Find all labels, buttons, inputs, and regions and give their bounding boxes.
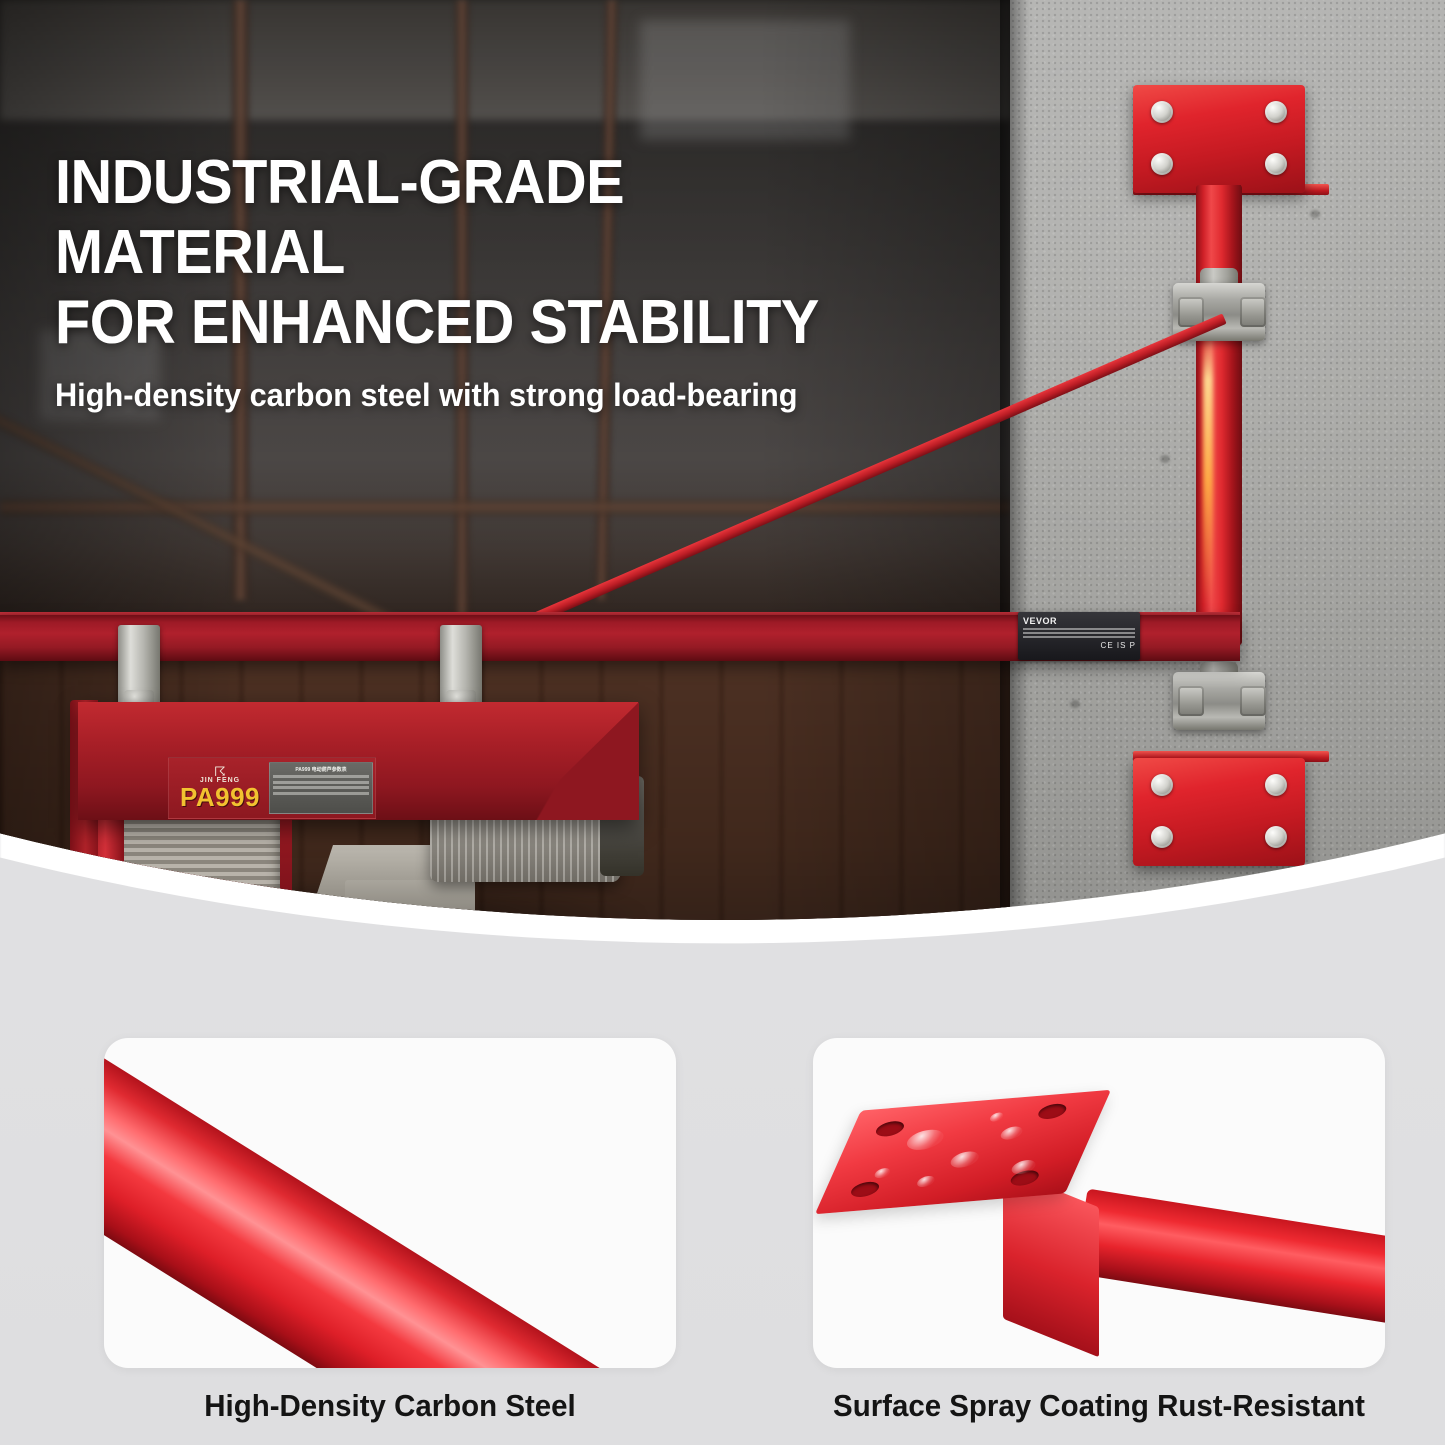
water-droplet — [988, 1112, 1004, 1122]
clamp-ear — [1178, 686, 1204, 716]
bolt-hole — [1035, 1103, 1069, 1120]
steel-cable — [205, 900, 208, 960]
scaffold-crossbeam — [0, 500, 1010, 515]
vevor-brand-text: VEVOR — [1023, 616, 1135, 626]
bolt-icon — [1265, 826, 1287, 848]
vevor-spec-lines — [1023, 628, 1135, 638]
bolt-icon — [1265, 153, 1287, 175]
model-number-text: PA999 — [175, 784, 265, 810]
top-mounting-plate — [1133, 85, 1305, 193]
red-steel-tube-artwork — [104, 1038, 676, 1368]
ceiling-blur — [0, 0, 1010, 120]
water-droplet — [903, 1128, 947, 1151]
bolt-icon — [1151, 153, 1173, 175]
wall-blemish — [1160, 455, 1170, 463]
bottom-mounting-plate — [1133, 758, 1305, 866]
sticker-brand-block: ☈ JIN FENG PA999 — [169, 766, 265, 810]
bolt-hole — [873, 1120, 907, 1137]
product-feature-page: VEVOR CE IS P — [0, 0, 1445, 1445]
hero-subheadline: High-density carbon steel with strong lo… — [55, 376, 957, 414]
water-droplet — [948, 1150, 982, 1168]
feature-card-rust-resistant — [813, 1038, 1385, 1368]
jin-feng-logo-icon: ☈ — [175, 766, 265, 777]
bolt-icon — [1151, 774, 1173, 796]
headline-line-2: FOR ENHANCED STABILITY — [55, 288, 929, 358]
wall-blemish — [1310, 210, 1320, 218]
bolt-icon — [1265, 101, 1287, 123]
clamp-ear — [1240, 686, 1266, 716]
clamp-ear — [1240, 297, 1266, 327]
headline-line-1: INDUSTRIAL-GRADE MATERIAL — [55, 148, 929, 288]
red-tube-artwork — [1074, 1189, 1385, 1340]
hero-section: VEVOR CE IS P — [0, 0, 1445, 1000]
water-droplet — [873, 1168, 892, 1179]
spec-plate-title: PA999 电动葫芦参数表 — [273, 766, 369, 773]
bolt-icon — [1151, 826, 1173, 848]
feature-cards-row — [0, 1038, 1445, 1378]
caption-rust-resistant: Surface Spray Coating Rust-Resistant — [827, 1388, 1370, 1424]
post-light-highlight — [1203, 330, 1213, 605]
hero-headline-block: INDUSTRIAL-GRADE MATERIAL FOR ENHANCED S… — [55, 148, 995, 414]
spec-parameter-plate: PA999 电动葫芦参数表 — [269, 762, 373, 814]
wall-blemish — [1070, 700, 1080, 708]
hoist-product-sticker: ☈ JIN FENG PA999 PA999 电动葫芦参数表 — [168, 757, 376, 819]
water-droplet — [915, 1175, 937, 1187]
bolt-icon — [1265, 774, 1287, 796]
bolt-icon — [1151, 101, 1173, 123]
wall-shadow-edge — [1000, 0, 1030, 1000]
water-droplet — [998, 1126, 1025, 1141]
feature-card-carbon-steel — [104, 1038, 676, 1368]
bolt-hole — [848, 1181, 882, 1198]
window-glow — [640, 20, 850, 140]
caption-carbon-steel: High-Density Carbon Steel — [118, 1388, 661, 1424]
ce-mark-text: CE IS P — [1101, 641, 1136, 650]
vevor-spec-label: VEVOR CE IS P — [1018, 612, 1140, 660]
